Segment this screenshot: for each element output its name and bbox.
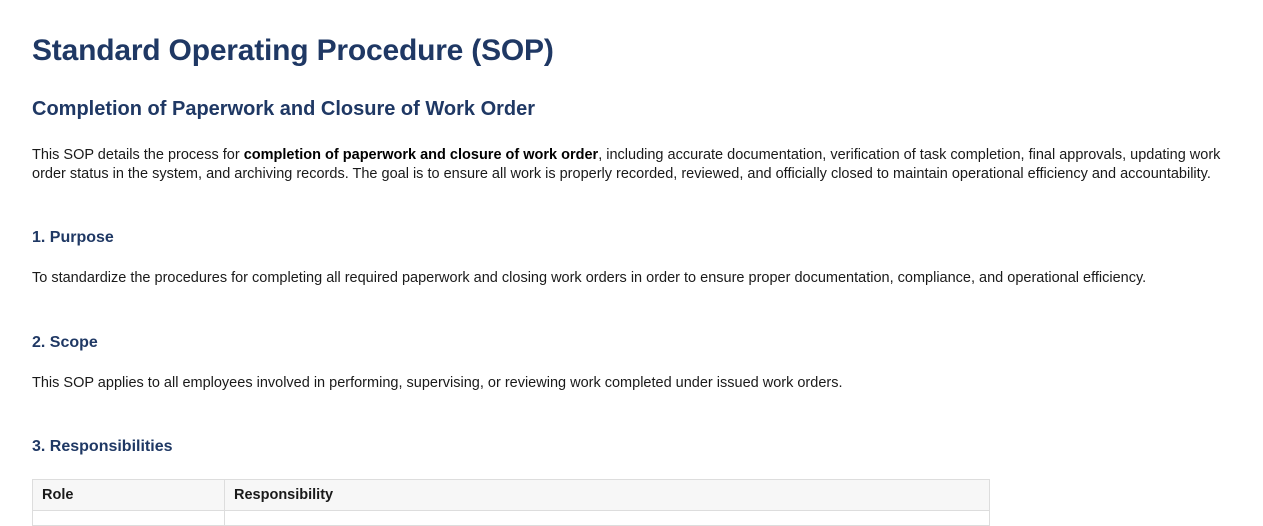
section-heading-responsibilities: 3. Responsibilities <box>32 393 1231 456</box>
table-row <box>33 510 990 525</box>
table-column-header-responsibility: Responsibility <box>225 479 990 510</box>
table-header: Role Responsibility <box>33 479 990 510</box>
section-body-purpose: To standardize the procedures for comple… <box>32 247 1231 288</box>
intro-paragraph: This SOP details the process for complet… <box>32 121 1231 184</box>
table-cell-responsibility <box>225 510 990 525</box>
document-subtitle: Completion of Paperwork and Closure of W… <box>32 69 1231 121</box>
document-page: Standard Operating Procedure (SOP) Compl… <box>0 0 1263 526</box>
intro-emphasis-text: completion of paperwork and closure of w… <box>244 147 599 163</box>
section-body-scope: This SOP applies to all employees involv… <box>32 352 1231 393</box>
page-title: Standard Operating Procedure (SOP) <box>32 0 1231 69</box>
intro-lead-text: This SOP details the process for <box>32 147 244 163</box>
table-column-header-role: Role <box>33 479 225 510</box>
table-body <box>33 510 990 525</box>
section-heading-scope: 2. Scope <box>32 288 1231 352</box>
responsibilities-table: Role Responsibility <box>32 479 990 526</box>
section-heading-purpose: 1. Purpose <box>32 184 1231 247</box>
table-cell-role <box>33 510 225 525</box>
table-header-row: Role Responsibility <box>33 479 990 510</box>
